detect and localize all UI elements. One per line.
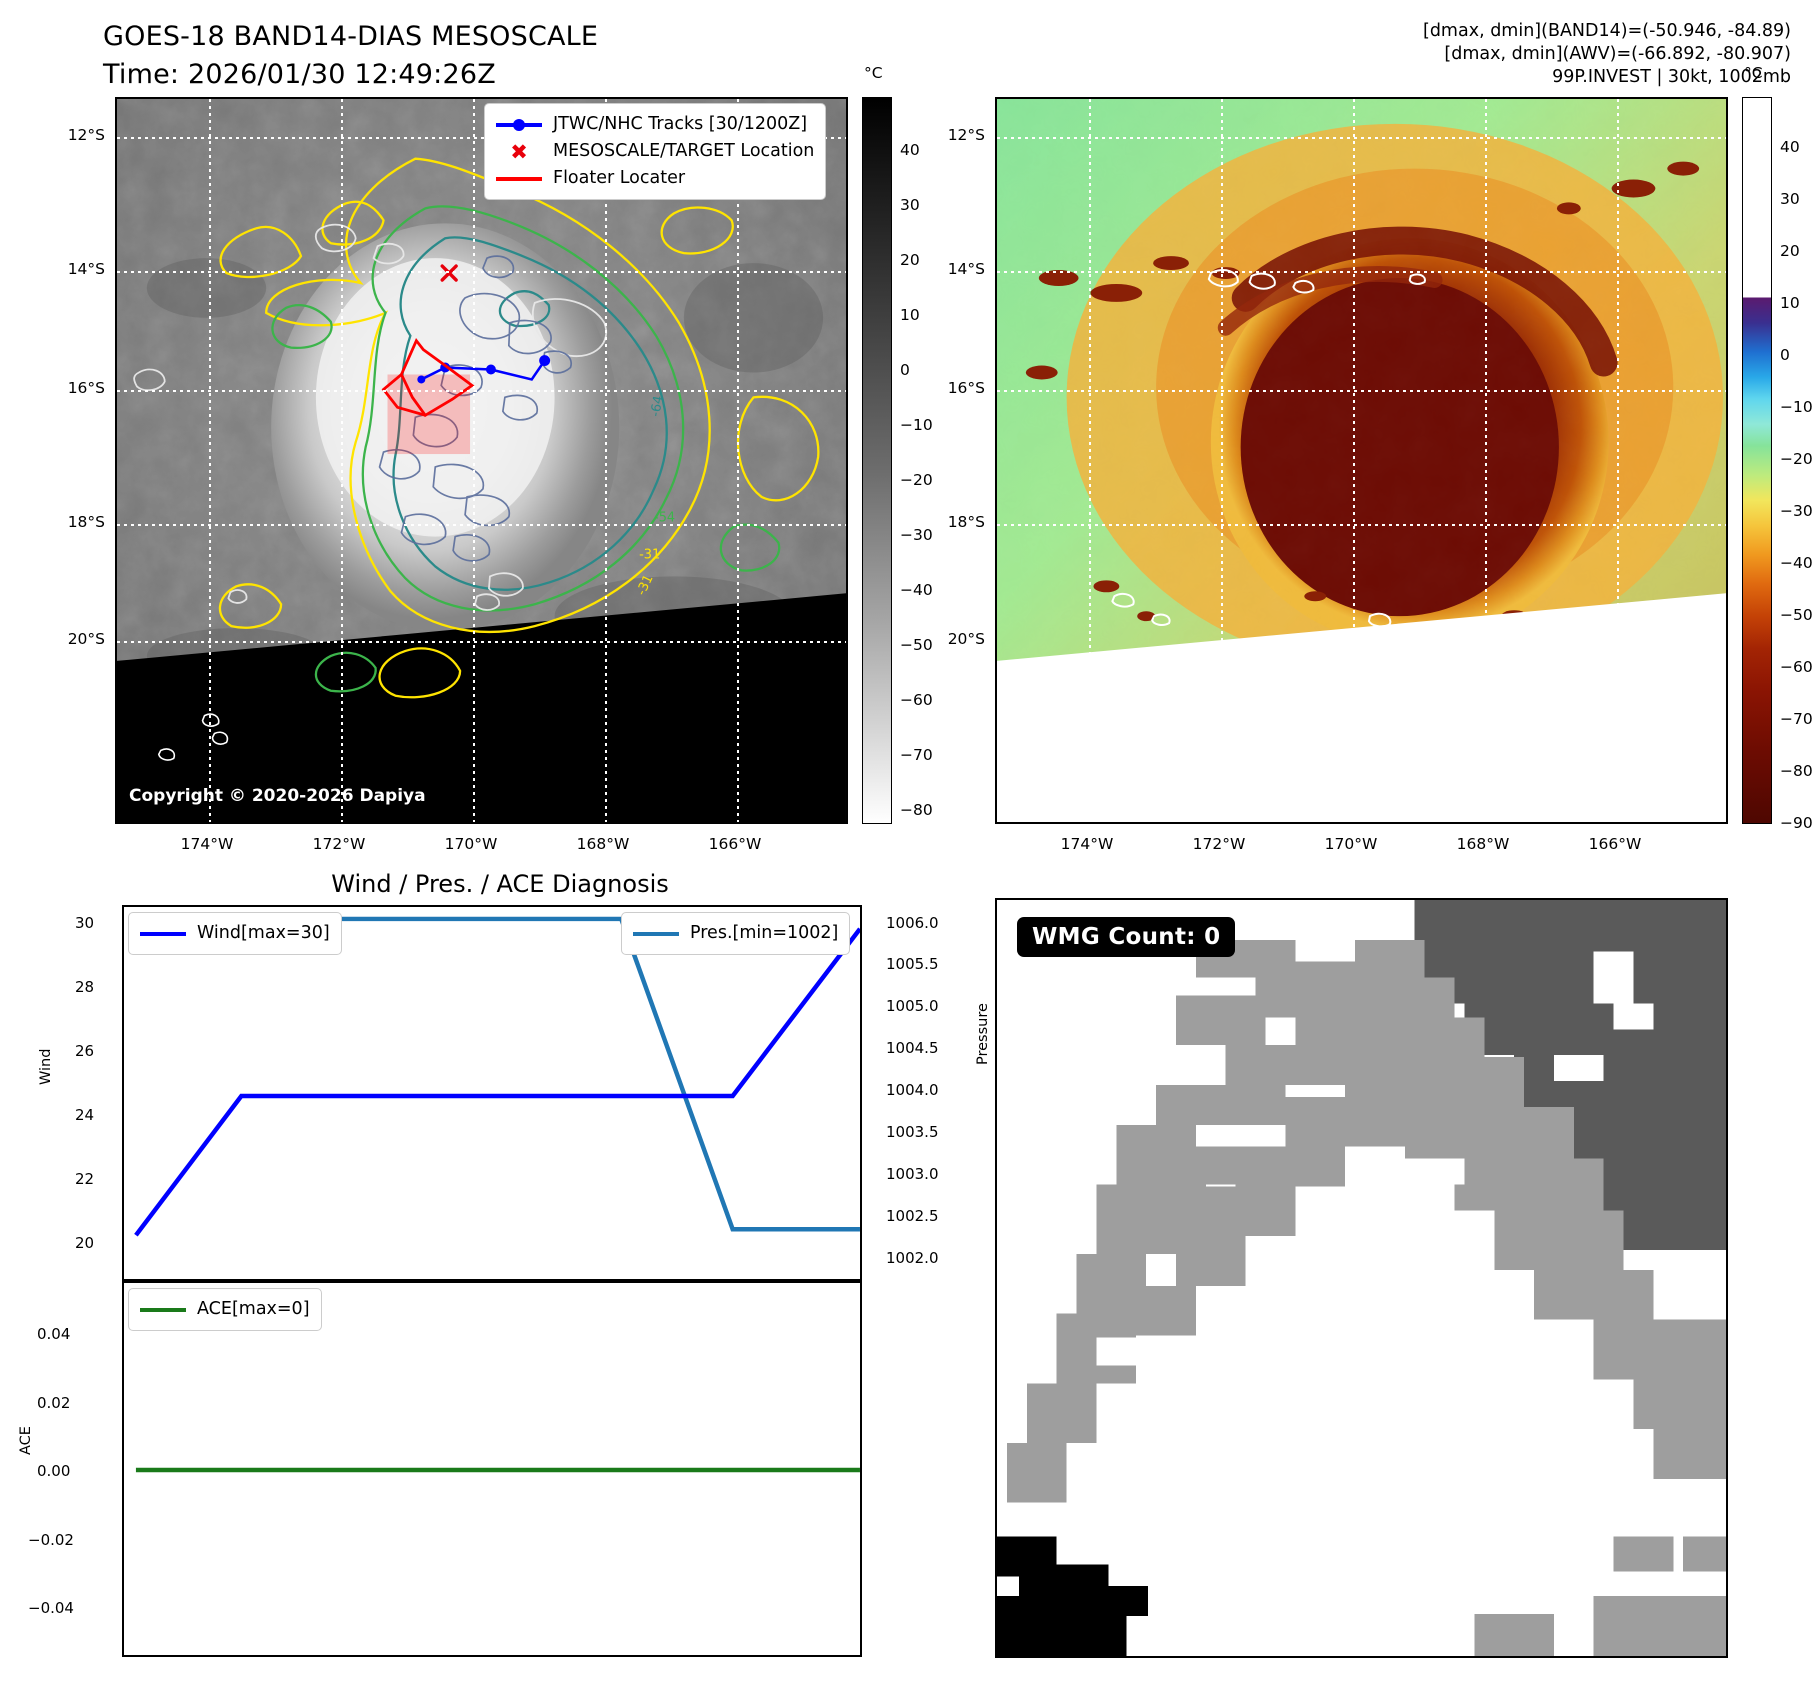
copyright-text: Copyright © 2020-2026 Dapiya	[129, 786, 426, 806]
ace-tick: −0.02	[28, 1531, 74, 1549]
pres-tick: 1002.0	[886, 1249, 939, 1267]
cbar-tick: 20	[900, 251, 920, 269]
grid-line-lon	[1485, 99, 1487, 822]
cbar-tick: 30	[1780, 190, 1800, 208]
pres-tick: 1005.5	[886, 955, 939, 973]
wmg-count-badge: WMG Count: 0	[1017, 917, 1235, 957]
grid-line-lon	[1353, 99, 1355, 822]
chart-title: Wind / Pres. / ACE Diagnosis	[331, 870, 669, 898]
header-metadata: [dmax, dmin](BAND14)=(-50.946, -84.89) […	[1423, 20, 1791, 89]
grid-line-lon	[1221, 99, 1223, 822]
wind-legend: Wind[max=30]	[128, 912, 342, 955]
title-line-2: Time: 2026/01/30 12:49:26Z	[103, 56, 803, 94]
legend-label-pressure: Pres.[min=1002]	[690, 920, 838, 947]
cbar-tick: 0	[900, 361, 910, 379]
cbar-tick: −60	[900, 691, 933, 709]
lat-tick: 14°S	[40, 260, 105, 278]
lat-tick: 20°S	[40, 630, 105, 648]
cbar-tick: −80	[1780, 762, 1813, 780]
cbar-tick: −70	[900, 746, 933, 764]
cbar-tick: −20	[900, 471, 933, 489]
lat-tick: 18°S	[40, 513, 105, 531]
cbar-tick: 40	[1780, 138, 1800, 156]
awv-colorbar	[1742, 97, 1772, 824]
ace-axis-label: ACE	[18, 1426, 34, 1455]
grid-line-lat	[117, 271, 846, 273]
grid-line-lon	[737, 99, 739, 822]
ace-tick: 0.00	[37, 1462, 70, 1480]
lon-tick: 170°W	[1325, 835, 1378, 853]
lon-tick: 174°W	[181, 835, 234, 853]
lat-tick: 20°S	[920, 630, 985, 648]
pres-tick: 1002.5	[886, 1207, 939, 1225]
cbar-tick: −30	[1780, 502, 1813, 520]
ace-tick: 0.02	[37, 1394, 70, 1412]
wind-tick: 20	[75, 1234, 94, 1252]
cbar-tick: 10	[1780, 294, 1800, 312]
ace-chart[interactable]	[122, 1281, 862, 1657]
ir-colorbar-unit: °C	[864, 64, 883, 82]
grid-line-lon	[209, 99, 211, 822]
wind-tick: 26	[75, 1042, 94, 1060]
ace-plot	[124, 1283, 860, 1657]
pres-tick: 1006.0	[886, 914, 939, 932]
lat-tick: 12°S	[40, 126, 105, 144]
lon-tick: 168°W	[1457, 835, 1510, 853]
legend-label-wind: Wind[max=30]	[197, 920, 330, 947]
cbar-tick: −20	[1780, 450, 1813, 468]
lon-tick: 166°W	[1589, 835, 1642, 853]
ace-legend: ACE[max=0]	[128, 1288, 322, 1331]
meta-awv-range: [dmax, dmin](AWV)=(-66.892, -80.907)	[1423, 43, 1791, 66]
pres-tick: 1005.0	[886, 997, 939, 1015]
legend-label-tracks: JTWC/NHC Tracks [30/1200Z]	[553, 111, 807, 138]
awv-map[interactable]	[995, 97, 1728, 824]
page-title: GOES-18 BAND14-DIAS MESOSCALE Time: 2026…	[103, 18, 803, 94]
lat-tick: 12°S	[920, 126, 985, 144]
lon-tick: 172°W	[1193, 835, 1246, 853]
wind-tick: 28	[75, 978, 94, 996]
wind-axis-label: Wind	[38, 1049, 54, 1085]
cbar-tick: −90	[1780, 814, 1813, 832]
pres-tick: 1003.5	[886, 1123, 939, 1141]
grid-line-lat	[997, 271, 1726, 273]
meta-storm-summary: 99P.INVEST | 30kt, 1002mb	[1423, 66, 1791, 89]
pres-tick: 1003.0	[886, 1165, 939, 1183]
lat-tick: 16°S	[920, 379, 985, 397]
legend-item-pressure: Pres.[min=1002]	[633, 920, 838, 947]
x-marker-icon: ✖	[496, 143, 542, 161]
lon-tick: 174°W	[1061, 835, 1114, 853]
lat-tick: 16°S	[40, 379, 105, 397]
cbar-tick: −60	[1780, 658, 1813, 676]
wmg-imagery	[997, 900, 1726, 1656]
cbar-tick: −10	[1780, 398, 1813, 416]
grid-line-lat	[997, 390, 1726, 392]
wind-pressure-plot	[124, 907, 860, 1281]
legend-item-target: ✖ MESOSCALE/TARGET Location	[496, 138, 814, 165]
awv-colorbar-unit: °C	[1744, 64, 1763, 82]
lat-tick: 14°S	[920, 260, 985, 278]
svg-text:-31: -31	[639, 547, 660, 562]
cbar-tick: −40	[900, 581, 933, 599]
ir-map-legend: JTWC/NHC Tracks [30/1200Z] ✖ MESOSCALE/T…	[484, 103, 826, 200]
meta-band14-range: [dmax, dmin](BAND14)=(-50.946, -84.89)	[1423, 20, 1791, 43]
wind-tick: 22	[75, 1170, 94, 1188]
grid-line-lon	[473, 99, 475, 822]
legend-label-ace: ACE[max=0]	[197, 1296, 310, 1323]
legend-label-target: MESOSCALE/TARGET Location	[553, 138, 814, 165]
ace-tick: 0.04	[37, 1325, 70, 1343]
ir-mesoscale-map[interactable]: -64 -54 -31 -31	[115, 97, 848, 824]
wind-tick: 24	[75, 1106, 94, 1124]
grid-line-lat	[117, 390, 846, 392]
pres-tick: 1004.0	[886, 1081, 939, 1099]
lon-tick: 168°W	[577, 835, 630, 853]
wind-pressure-chart[interactable]	[122, 905, 862, 1281]
cbar-tick: −10	[900, 416, 933, 434]
cbar-tick: −40	[1780, 554, 1813, 572]
grid-line-lon	[1089, 99, 1091, 822]
ir-colorbar	[862, 97, 892, 824]
grid-line-lat	[997, 137, 1726, 139]
grid-line-lat	[997, 524, 1726, 526]
title-line-1: GOES-18 BAND14-DIAS MESOSCALE	[103, 18, 803, 56]
legend-item-ace: ACE[max=0]	[140, 1296, 310, 1323]
pressure-axis-label: Pressure	[975, 1003, 991, 1065]
grid-line-lat	[117, 524, 846, 526]
grid-line-lon	[1617, 99, 1619, 822]
ace-tick: −0.04	[28, 1599, 74, 1617]
wmg-map[interactable]: WMG Count: 0	[995, 898, 1728, 1658]
pressure-legend: Pres.[min=1002]	[621, 912, 850, 955]
grid-line-lon	[341, 99, 343, 822]
cbar-tick: 30	[900, 196, 920, 214]
pres-tick: 1004.5	[886, 1039, 939, 1057]
cbar-tick: 10	[900, 306, 920, 324]
legend-item-wind: Wind[max=30]	[140, 920, 330, 947]
legend-item-tracks: JTWC/NHC Tracks [30/1200Z]	[496, 111, 814, 138]
legend-label-floater: Floater Locater	[553, 165, 685, 192]
lon-tick: 170°W	[445, 835, 498, 853]
legend-item-floater: Floater Locater	[496, 165, 814, 192]
lon-tick: 166°W	[709, 835, 762, 853]
cbar-tick: 40	[900, 141, 920, 159]
lat-tick: 18°S	[920, 513, 985, 531]
lon-tick: 172°W	[313, 835, 366, 853]
cbar-tick: 20	[1780, 242, 1800, 260]
cbar-tick: 0	[1780, 346, 1790, 364]
grid-line-lon	[605, 99, 607, 822]
wind-tick: 30	[75, 914, 94, 932]
cbar-tick: −50	[1780, 606, 1813, 624]
grid-line-lat	[117, 641, 846, 643]
cbar-tick: −80	[900, 801, 933, 819]
cbar-tick: −70	[1780, 710, 1813, 728]
